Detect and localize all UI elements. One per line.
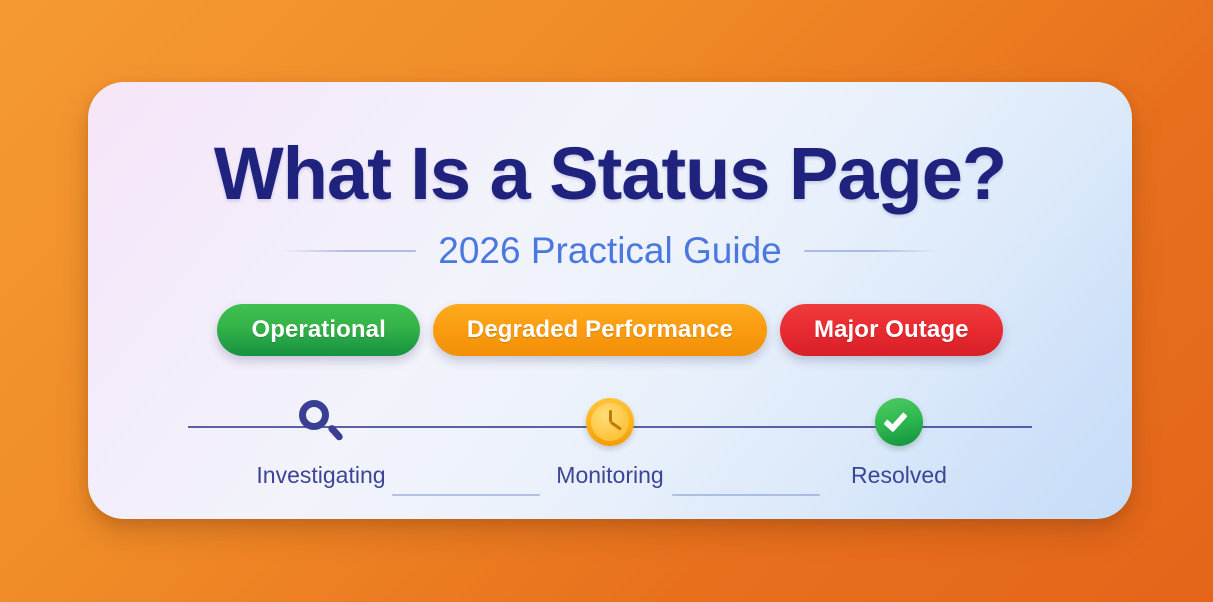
status-page-hero-card: What Is a Status Page? 2026 Practical Gu… <box>88 82 1132 519</box>
incident-timeline: Investigating Monitoring <box>188 394 1032 504</box>
timeline-label-rule-2 <box>672 494 820 496</box>
status-badge-operational[interactable]: Operational <box>217 304 419 356</box>
status-pill-row: Operational Degraded Performance Major O… <box>88 304 1132 356</box>
timeline-step-investigating[interactable]: Investigating <box>246 394 396 487</box>
timeline-label-rule-1 <box>392 494 540 496</box>
subtitle-row: 2026 Practical Guide <box>88 232 1132 269</box>
status-badge-degraded[interactable]: Degraded Performance <box>433 304 767 356</box>
timeline-steps: Investigating Monitoring <box>188 394 1032 487</box>
subtitle-rule-right <box>804 250 940 252</box>
subtitle-rule-left <box>280 250 416 252</box>
status-badge-outage[interactable]: Major Outage <box>780 304 1003 356</box>
magnifying-glass-icon <box>293 394 349 450</box>
timeline-step-label-resolved: Resolved <box>851 464 947 487</box>
timeline-step-label-monitoring: Monitoring <box>556 464 663 487</box>
timeline-step-monitoring[interactable]: Monitoring <box>535 394 685 487</box>
clock-icon <box>582 394 638 450</box>
timeline-step-resolved[interactable]: Resolved <box>824 394 974 487</box>
timeline-step-label-investigating: Investigating <box>256 464 385 487</box>
check-circle-icon <box>871 394 927 450</box>
page-subtitle: 2026 Practical Guide <box>438 232 781 269</box>
page-title: What Is a Status Page? <box>88 137 1132 211</box>
